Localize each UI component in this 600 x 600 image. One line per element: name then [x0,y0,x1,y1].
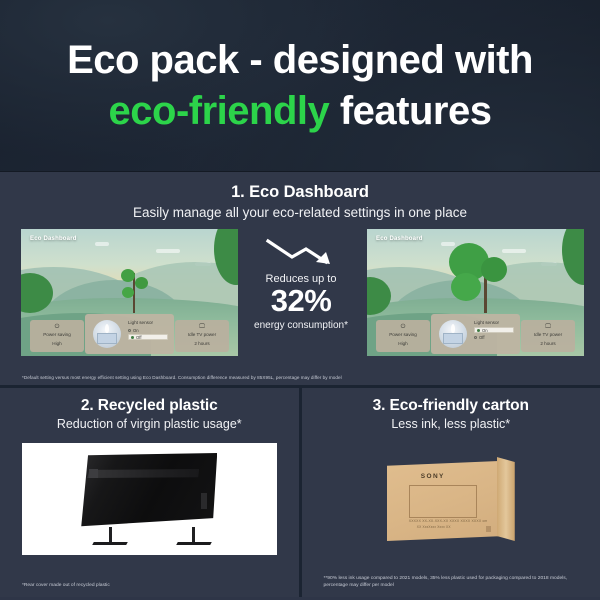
light-sensor-on-label: On [482,328,488,333]
light-sensor-option-off[interactable]: Off [128,334,168,340]
light-sensor-preview [439,320,467,348]
cloud-icon [441,242,455,246]
light-sensor-card[interactable]: Light sensor On Off [431,314,520,354]
section2-footnote: *Rear cover made out of recycled plastic [22,582,281,590]
section3-subtitle: Less ink, less plastic* [302,417,600,431]
section-recycled-plastic: 2. Recycled plastic Reduction of virgin … [0,388,299,597]
hero-accent-text: eco-friendly [109,89,330,133]
stat-value: 32% [243,285,359,318]
lamp-icon [105,324,109,333]
power-saving-value: High [30,341,84,346]
idle-tv-power-card[interactable]: 🖵 Idle TV power 2 hours [175,320,229,352]
preview-box [97,333,117,344]
light-sensor-option-off[interactable]: Off [474,334,514,340]
tv-stand-leg [92,542,128,545]
carton-side-face [497,457,515,541]
tv-product-render [73,453,225,545]
tv-screenshot-after: Eco Dashboard ⏻ Power saving High [367,229,584,356]
tv-stand-leg [176,542,212,545]
dashboard-settings-strip: ⏻ Power saving High Light sensor [21,314,238,354]
section2-subtitle: Reduction of virgin plastic usage* [0,417,299,431]
tv-stand-stem [109,527,112,543]
power-saving-card[interactable]: ⏻ Power saving High [376,320,430,352]
dashboard-screen-label: Eco Dashboard [376,236,423,242]
power-saving-value: High [376,341,430,346]
light-sensor-preview [93,320,121,348]
idle-tv-power-label: Idle TV power [175,332,229,337]
light-sensor-label: Light sensor [128,320,168,325]
carton-meta-line1: XXXXX XX-XX-XXX-XX XXXX XXXX XXXX cm [409,519,488,523]
tree-leaf [121,269,135,282]
section2-title: 2. Recycled plastic [0,397,299,415]
light-sensor-label: Light sensor [474,320,514,325]
section3-footnote: **90% less ink usage compared to 2021 mo… [324,575,583,590]
tree-leaf [481,257,507,282]
power-saving-label: Power saving [30,332,84,337]
tv-icon: 🖵 [521,324,575,331]
idle-tv-power-card[interactable]: 🖵 Idle TV power 2 hours [521,320,575,352]
hero-headline-line1: Eco pack - designed with [67,36,533,85]
radio-icon [128,329,131,332]
section3-title: 3. Eco-friendly carton [302,397,600,415]
cloud-icon [95,242,109,246]
power-icon: ⏻ [376,324,430,331]
idle-tv-power-value: 2 hours [175,341,229,346]
preview-box [443,333,463,344]
dashboard-comparison-row: Eco Dashboard ⏻ Power saving High [0,229,600,359]
tree-leaf [122,287,134,298]
cloud-icon [156,249,180,253]
radio-icon [474,336,477,339]
light-sensor-card[interactable]: Light sensor On Off [85,314,174,354]
section1-title: 1. Eco Dashboard [0,183,600,202]
light-sensor-selected-row: On [474,327,514,333]
tree-leaf [451,273,481,301]
hero-headline-rest: features [329,89,491,133]
cloud-icon [502,249,526,253]
stat-suffix: energy consumption* [243,320,359,331]
radio-icon-selected [477,329,480,332]
hero-banner: Eco pack - designed with eco-friendly fe… [0,0,600,172]
light-sensor-option-on[interactable]: On [474,327,514,333]
dashboard-screen-label: Eco Dashboard [30,236,77,242]
power-icon: ⏻ [30,324,84,331]
light-sensor-selected-row: Off [128,334,168,340]
carton-meta-line2: XX XxxXxxx Xxxx XX [417,525,451,529]
tv-rear-panel [81,453,217,527]
idle-tv-power-value: 2 hours [521,341,575,346]
section-eco-carton: 3. Eco-friendly carton Less ink, less pl… [302,388,600,597]
section-eco-dashboard: 1. Eco Dashboard Easily manage all your … [0,172,600,388]
tv-rear-band [87,469,199,478]
idle-tv-power-label: Idle TV power [521,332,575,337]
bottom-sections: 2. Recycled plastic Reduction of virgin … [0,388,600,597]
light-sensor-controls: Light sensor On Off [474,320,514,340]
radio-icon-selected [131,336,134,339]
tv-port [201,493,207,509]
tree-leaf [135,277,148,289]
section1-subtitle: Easily manage all your eco-related setti… [0,205,600,220]
power-saving-card[interactable]: ⏻ Power saving High [30,320,84,352]
eco-pack-infographic: Eco pack - designed with eco-friendly fe… [0,0,600,600]
tv-connector-block [89,469,98,478]
light-sensor-off-label: Off [136,335,142,340]
light-sensor-option-on[interactable]: On [128,327,168,333]
power-saving-label: Power saving [376,332,430,337]
carton-render: SONY XXXXX XX-XX-XXX-XX XXXX XXXX XXXX c… [387,457,515,541]
carton-tv-outline [409,485,477,518]
hero-headline-line2: eco-friendly features [109,87,492,136]
reduction-stat-block: Reduces up to 32% energy consumption* [243,237,359,331]
sony-logo: SONY [421,473,445,480]
tv-stand-stem [192,527,195,543]
down-right-arrow-icon [262,237,340,267]
carton-recycle-mark [486,526,491,532]
tv-icon: 🖵 [175,324,229,331]
light-sensor-controls: Light sensor On Off [128,320,168,340]
section1-footnote: *Default setting versus most energy effi… [22,375,342,380]
stat-prefix: Reduces up to [243,273,359,285]
lamp-icon [451,324,455,333]
tv-rear-photo [22,443,277,555]
light-sensor-off-label: Off [479,335,485,340]
dashboard-settings-strip: ⏻ Power saving High Light sensor [367,314,584,354]
light-sensor-on-label: On [133,328,139,333]
carton-photo: SONY XXXXX XX-XX-XXX-XX XXXX XXXX XXXX c… [324,443,579,555]
carton-dimension-line [411,517,475,518]
tv-screenshot-before: Eco Dashboard ⏻ Power saving High [21,229,238,356]
